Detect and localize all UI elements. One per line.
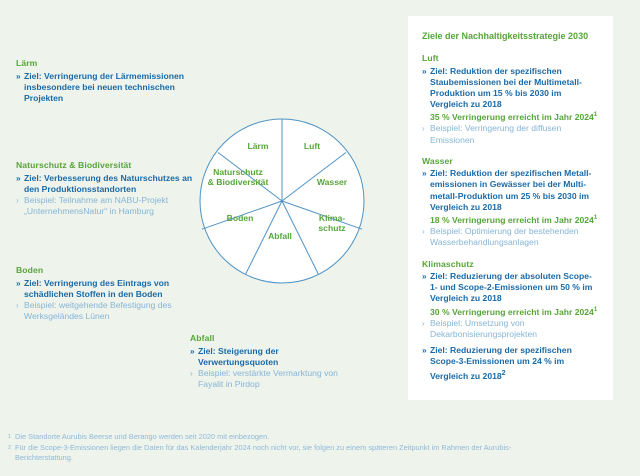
- goal-example-luft: › Beispiel: Verringerung der diffusen Em…: [422, 123, 599, 145]
- footnote-marker: 1: [594, 215, 597, 221]
- goal-achieved-wasser: 18 % Verringerung erreicht im Jahr 20241: [422, 213, 599, 226]
- example-text: Beispiel: weitgehende Befestigung des We…: [24, 300, 201, 322]
- footnote-1: 1 Die Standorte Aurubis Beerse und Beran…: [8, 432, 568, 443]
- pie-label-abfall: Abfall: [258, 231, 302, 241]
- goal-row-klimaschutz: » Ziel: Reduzierung der absoluten Scope-…: [422, 271, 599, 305]
- infographic-canvas: Lärm » Ziel: Verringerung der Lärmemissi…: [0, 0, 640, 476]
- pie-label-boden: Boden: [218, 213, 262, 223]
- topic-heading-boden: Boden: [16, 265, 201, 276]
- goal-text: Ziel: Reduktion der spezifischen Staubem…: [430, 66, 599, 111]
- example-text: Beispiel: Optimierung der bestehenden Wa…: [430, 226, 599, 248]
- topic-goal-boden: » Ziel: Verringerung des Eintrags von sc…: [16, 278, 201, 300]
- goal-text: Ziel: Reduzierung der absoluten Scope-1-…: [430, 271, 599, 305]
- goal-bullet-icon: »: [16, 278, 24, 289]
- pie-label-wasser: Wasser: [308, 177, 356, 187]
- topic-heading-naturschutz: Naturschutz & Biodiversität: [16, 160, 206, 171]
- topic-goal-naturschutz: » Ziel: Verbesserung des Naturschutzes a…: [16, 173, 206, 195]
- goal-group-luft: Luft » Ziel: Reduktion der spezifischen …: [422, 53, 599, 146]
- goal-bullet-icon: »: [422, 168, 430, 179]
- topic-block-boden: Boden » Ziel: Verringerung des Eintrags …: [16, 265, 201, 322]
- goal-row-wasser: » Ziel: Reduktion der spezifischen Metal…: [422, 168, 599, 213]
- example-bullet-icon: ›: [16, 300, 24, 311]
- goal-example-wasser: › Beispiel: Optimierung der bestehenden …: [422, 226, 599, 248]
- goal-bullet-icon: »: [422, 271, 430, 282]
- pie-label-laerm: Lärm: [238, 141, 278, 151]
- topic-block-abfall: Abfall » Ziel: Steigerung der Verwertung…: [190, 333, 340, 390]
- footnote-marker: 2: [8, 443, 15, 454]
- goal-text: Ziel: Verringerung der Lärmemissionen in…: [24, 71, 201, 105]
- topic-goal-laerm: » Ziel: Verringerung der Lärmemissionen …: [16, 71, 201, 105]
- example-text: Beispiel: Umsetzung von Dekarbonisierung…: [430, 318, 599, 340]
- footnote-2: 2 Für die Scope-3-Emissionen liegen die …: [8, 443, 568, 464]
- achieved-text: 35 % Verringerung erreicht im Jahr 2024: [430, 112, 594, 122]
- topic-heading-laerm: Lärm: [16, 58, 201, 69]
- goal-text: Ziel: Verbesserung des Naturschutzes an …: [24, 173, 206, 195]
- goal-row-scope3: » Ziel: Reduzierung der spezifischen Sco…: [422, 345, 599, 381]
- goal-bullet-icon: »: [16, 173, 24, 184]
- goal-text: Ziel: Verringerung des Eintrags von schä…: [24, 278, 201, 300]
- goals-panel: Ziele der Nachhaltigkeitsstrategie 2030 …: [408, 16, 613, 400]
- example-text: Beispiel: verstärkte Vermarktung von Fay…: [198, 368, 340, 390]
- topic-heading-abfall: Abfall: [190, 333, 340, 344]
- example-bullet-icon: ›: [422, 226, 430, 237]
- goal-bullet-icon: »: [190, 346, 198, 357]
- goal-achieved-luft: 35 % Verringerung erreicht im Jahr 20241: [422, 110, 599, 123]
- example-bullet-icon: ›: [190, 368, 198, 379]
- example-bullet-icon: ›: [16, 195, 24, 206]
- goal-bullet-icon: »: [422, 66, 430, 77]
- pie-label-luft: Luft: [292, 141, 332, 151]
- footnote-text: Für die Scope-3-Emissionen liegen die Da…: [15, 443, 568, 464]
- example-text: Beispiel: Verringerung der diffusen Emis…: [430, 123, 599, 145]
- pie-label-naturschutz: Naturschutz & Biodiversität: [202, 167, 274, 187]
- topic-example-naturschutz: › Beispiel: Teilnahme am NABU-Projekt „U…: [16, 195, 206, 217]
- footnote-marker: 2: [502, 369, 506, 377]
- footnote-text: Die Standorte Aurubis Beerse und Berango…: [15, 432, 568, 443]
- goal-row-luft: » Ziel: Reduktion der spezifischen Staub…: [422, 66, 599, 111]
- goal-group-heading-wasser: Wasser: [422, 156, 599, 167]
- goal-group-heading-luft: Luft: [422, 53, 599, 64]
- goal-group-klimaschutz: Klimaschutz » Ziel: Reduzierung der abso…: [422, 259, 599, 382]
- achieved-text: 18 % Verringerung erreicht im Jahr 2024: [430, 215, 594, 225]
- pie-label-klimaschutz: Klima- schutz: [310, 213, 354, 233]
- goal-group-wasser: Wasser » Ziel: Reduktion der spezifische…: [422, 156, 599, 249]
- topic-block-naturschutz: Naturschutz & Biodiversität » Ziel: Verb…: [16, 160, 206, 217]
- footnote-marker: 1: [594, 307, 597, 313]
- goal-bullet-icon: »: [16, 71, 24, 82]
- example-text: Beispiel: Teilnahme am NABU-Projekt „Unt…: [24, 195, 206, 217]
- footnote-marker: 1: [8, 432, 15, 443]
- goal-achieved-klimaschutz: 30 % Verringerung erreicht im Jahr 20241: [422, 305, 599, 318]
- goal-bullet-icon: »: [422, 345, 430, 356]
- pie-chart: Luft Wasser Klima- schutz Abfall Boden N…: [196, 115, 368, 287]
- goals-panel-title: Ziele der Nachhaltigkeitsstrategie 2030: [422, 30, 599, 42]
- goal-text: Ziel: Steigerung der Verwertungsquoten: [198, 346, 340, 368]
- goal-text: Ziel: Reduzierung der spezifischen Scope…: [430, 345, 599, 381]
- footnote-marker: 1: [594, 112, 597, 118]
- achieved-text: 30 % Verringerung erreicht im Jahr 2024: [430, 307, 594, 317]
- topic-goal-abfall: » Ziel: Steigerung der Verwertungsquoten: [190, 346, 340, 368]
- topic-block-laerm: Lärm » Ziel: Verringerung der Lärmemissi…: [16, 58, 201, 104]
- goal-group-heading-klimaschutz: Klimaschutz: [422, 259, 599, 270]
- topic-example-abfall: › Beispiel: verstärkte Vermarktung von F…: [190, 368, 340, 390]
- example-bullet-icon: ›: [422, 318, 430, 329]
- topic-example-boden: › Beispiel: weitgehende Befestigung des …: [16, 300, 201, 322]
- pie-chart-svg: [196, 115, 368, 287]
- goal-text: Ziel: Reduktion der spezifischen Metall-…: [430, 168, 599, 213]
- goal-example-klimaschutz: › Beispiel: Umsetzung von Dekarbonisieru…: [422, 318, 599, 340]
- footnotes: 1 Die Standorte Aurubis Beerse und Beran…: [8, 432, 568, 464]
- example-bullet-icon: ›: [422, 123, 430, 134]
